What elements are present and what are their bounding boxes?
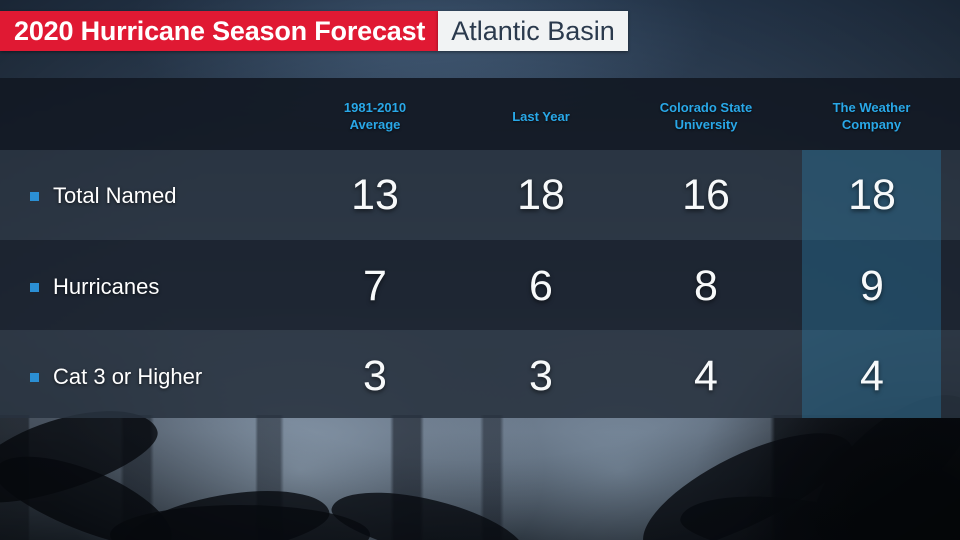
row-label-hurricanes: Hurricanes <box>53 274 159 300</box>
column-header-line: Average <box>350 116 401 133</box>
bullet-square-icon <box>30 373 39 382</box>
column-header-last-year: Last Year <box>471 90 611 142</box>
title-primary-banner: 2020 Hurricane Season Forecast <box>0 11 438 51</box>
cell-total-named-average: 13 <box>305 174 445 217</box>
column-header-line: Colorado State <box>660 99 752 116</box>
cell-cat3-csu: 4 <box>636 355 776 398</box>
row-label-cat3-or-higher: Cat 3 or Higher <box>53 364 202 390</box>
weather-graphic-screen: 2020 Hurricane Season Forecast Atlantic … <box>0 0 960 540</box>
cell-total-named-twc: 18 <box>802 174 942 217</box>
column-header-line: Last Year <box>512 108 570 125</box>
column-header-the-weather-company: The Weather Company <box>802 90 941 142</box>
table-row: Cat 3 or Higher <box>30 364 202 390</box>
cell-total-named-last-year: 18 <box>471 174 611 217</box>
forecast-table: 1981-2010 Average Last Year Colorado Sta… <box>0 78 960 418</box>
cell-cat3-average: 3 <box>305 355 445 398</box>
row-label-total-named: Total Named <box>53 183 177 209</box>
column-header-line: 1981-2010 <box>344 99 406 116</box>
title-bar: 2020 Hurricane Season Forecast Atlantic … <box>0 11 628 51</box>
page-title: 2020 Hurricane Season Forecast <box>14 18 425 45</box>
page-subtitle: Atlantic Basin <box>451 18 615 45</box>
cell-hurricanes-csu: 8 <box>636 265 776 308</box>
cell-cat3-last-year: 3 <box>471 355 611 398</box>
title-secondary-banner: Atlantic Basin <box>438 11 628 51</box>
table-row: Hurricanes <box>30 274 159 300</box>
cell-hurricanes-last-year: 6 <box>471 265 611 308</box>
cell-hurricanes-average: 7 <box>305 265 445 308</box>
column-header-colorado-state-university: Colorado State University <box>633 90 779 142</box>
column-header-average: 1981-2010 Average <box>305 90 445 142</box>
cell-cat3-twc: 4 <box>802 355 942 398</box>
cell-hurricanes-twc: 9 <box>802 265 942 308</box>
column-header-line: Company <box>842 116 901 133</box>
cell-total-named-csu: 16 <box>636 174 776 217</box>
column-header-line: University <box>675 116 738 133</box>
column-header-line: The Weather <box>833 99 911 116</box>
table-row: Total Named <box>30 183 177 209</box>
bullet-square-icon <box>30 283 39 292</box>
bullet-square-icon <box>30 192 39 201</box>
